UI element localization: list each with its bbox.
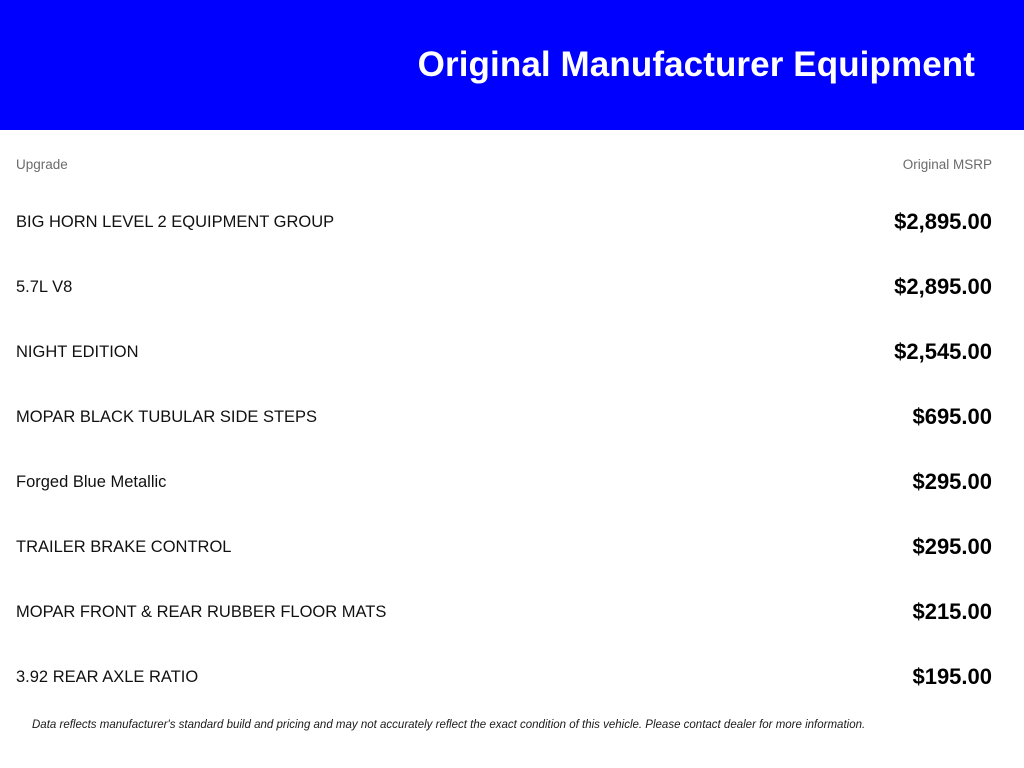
table-row: NIGHT EDITION $2,545.00 — [16, 320, 992, 385]
equipment-page: Original Manufacturer Equipment Upgrade … — [0, 0, 1024, 768]
table-row: BIG HORN LEVEL 2 EQUIPMENT GROUP $2,895.… — [16, 190, 992, 255]
column-header-msrp: Original MSRP — [621, 130, 992, 190]
table-header: Upgrade Original MSRP — [16, 130, 992, 190]
equipment-name: TRAILER BRAKE CONTROL — [16, 515, 621, 580]
page-header-banner: Original Manufacturer Equipment — [0, 0, 1024, 130]
equipment-name: MOPAR FRONT & REAR RUBBER FLOOR MATS — [16, 580, 621, 645]
equipment-price: $695.00 — [621, 385, 992, 450]
equipment-name: 5.7L V8 — [16, 255, 621, 320]
equipment-price: $2,895.00 — [621, 190, 992, 255]
equipment-price: $195.00 — [621, 645, 992, 710]
column-header-upgrade: Upgrade — [16, 130, 621, 190]
equipment-name: 3.92 REAR AXLE RATIO — [16, 645, 621, 710]
equipment-price: $215.00 — [621, 580, 992, 645]
equipment-name: NIGHT EDITION — [16, 320, 621, 385]
bottom-spacer — [16, 733, 992, 768]
table-row: TRAILER BRAKE CONTROL $295.00 — [16, 515, 992, 580]
equipment-table-area: Upgrade Original MSRP BIG HORN LEVEL 2 E… — [0, 130, 1024, 768]
table-row: Forged Blue Metallic $295.00 — [16, 450, 992, 515]
table-row: MOPAR BLACK TUBULAR SIDE STEPS $695.00 — [16, 385, 992, 450]
equipment-name: BIG HORN LEVEL 2 EQUIPMENT GROUP — [16, 190, 621, 255]
equipment-price: $295.00 — [621, 450, 992, 515]
table-row: 5.7L V8 $2,895.00 — [16, 255, 992, 320]
equipment-price: $295.00 — [621, 515, 992, 580]
equipment-name: MOPAR BLACK TUBULAR SIDE STEPS — [16, 385, 621, 450]
table-row: 3.92 REAR AXLE RATIO $195.00 — [16, 645, 992, 710]
equipment-name: Forged Blue Metallic — [16, 450, 621, 515]
table-header-row: Upgrade Original MSRP — [16, 130, 992, 190]
table-row: MOPAR FRONT & REAR RUBBER FLOOR MATS $21… — [16, 580, 992, 645]
equipment-price: $2,545.00 — [621, 320, 992, 385]
table-body: BIG HORN LEVEL 2 EQUIPMENT GROUP $2,895.… — [16, 190, 992, 710]
disclaimer-text: Data reflects manufacturer's standard bu… — [16, 710, 992, 733]
equipment-price: $2,895.00 — [621, 255, 992, 320]
equipment-table: Upgrade Original MSRP BIG HORN LEVEL 2 E… — [16, 130, 992, 710]
page-title: Original Manufacturer Equipment — [418, 46, 975, 85]
